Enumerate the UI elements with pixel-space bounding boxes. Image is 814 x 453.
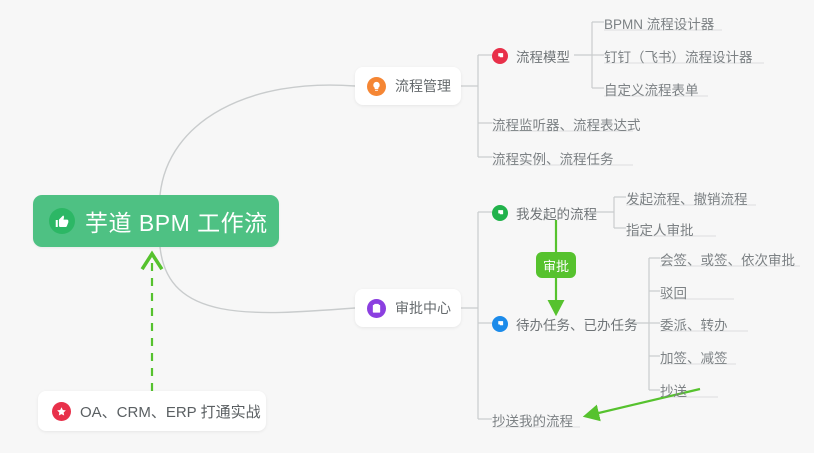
leaf-process-instance-task[interactable]: 流程实例、流程任务 [492,148,614,168]
leaf-carbon-copy[interactable]: 抄送 [660,380,687,400]
leaf-process-listener-expression[interactable]: 流程监听器、流程表达式 [492,114,641,134]
connector-root-to-approval [160,247,355,313]
leaf-countersign[interactable]: 会签、或签、依次审批 [660,249,795,269]
mindmap-canvas: 芋道 BPM 工作流 流程管理 流程模型 BPMN 流程设计器 钉钉（飞书）流程… [0,0,814,453]
lightbulb-icon [367,77,386,96]
branch-node-process-management[interactable]: 流程管理 [355,67,461,105]
leaf-custom-form[interactable]: 自定义流程表单 [604,79,699,99]
annotation-badge-approve: 审批 [536,252,576,278]
thumbs-up-icon [49,208,75,234]
branch-node-approval-center[interactable]: 审批中心 [355,289,461,327]
leaf-assignee-approval[interactable]: 指定人审批 [626,219,694,239]
star-icon [52,402,71,421]
leaf-add-remove-sign[interactable]: 加签、减签 [660,347,728,367]
flag-icon [492,316,508,332]
root-label: 芋道 BPM 工作流 [85,204,268,238]
flag-icon [492,205,508,221]
note-label-oa-crm-erp: OA、CRM、ERP 打通实战 [80,401,261,422]
clipboard-icon [367,299,386,318]
node-label-todo-done-tasks: 待办任务、已办任务 [516,314,638,334]
node-my-initiated-flow[interactable]: 我发起的流程 [492,203,597,223]
node-label-process-model: 流程模型 [516,46,570,66]
note-node-oa-crm-erp[interactable]: OA、CRM、ERP 打通实战 [38,391,266,431]
node-label-my-initiated-flow: 我发起的流程 [516,203,597,223]
leaf-dingtalk-designer[interactable]: 钉钉（飞书）流程设计器 [604,46,753,66]
branch-label-process-management: 流程管理 [395,76,451,96]
connector-root-to-process [160,85,355,195]
leaf-bpmn-designer[interactable]: BPMN 流程设计器 [604,13,714,33]
branch-label-approval-center: 审批中心 [395,298,451,318]
leaf-cc-to-me-flow[interactable]: 抄送我的流程 [492,410,573,430]
node-todo-done-tasks[interactable]: 待办任务、已办任务 [492,314,638,334]
leaf-reject[interactable]: 驳回 [660,282,687,302]
root-node[interactable]: 芋道 BPM 工作流 [33,195,279,247]
leaf-start-cancel-flow[interactable]: 发起流程、撤销流程 [626,188,748,208]
annotation-badge-label: 审批 [543,256,569,275]
node-process-model[interactable]: 流程模型 [492,46,570,66]
flag-icon [492,48,508,64]
leaf-delegate-transfer[interactable]: 委派、转办 [660,314,728,334]
